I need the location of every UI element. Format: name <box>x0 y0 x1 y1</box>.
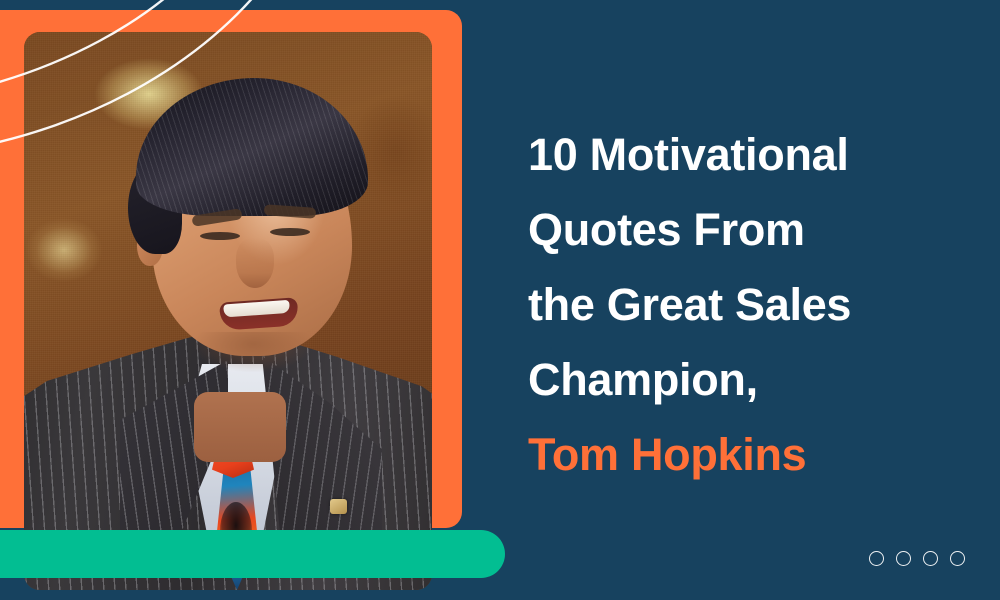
pagination-dot-4[interactable] <box>950 551 965 566</box>
chin-shadow <box>194 332 312 372</box>
pagination-dots[interactable] <box>869 551 965 566</box>
neck <box>194 392 286 462</box>
headline-line-2: Quotes From <box>528 192 958 267</box>
headline-accent-name: Tom Hopkins <box>528 417 958 492</box>
page-title: 10 Motivational Quotes From the Great Sa… <box>528 117 958 492</box>
eye-left <box>200 232 240 240</box>
pagination-dot-2[interactable] <box>896 551 911 566</box>
slide-canvas: 10 Motivational Quotes From the Great Sa… <box>0 0 1000 600</box>
green-accent-bar <box>0 530 505 578</box>
lapel-pin <box>330 499 347 514</box>
eye-right <box>270 228 310 236</box>
speaker-photo <box>24 32 432 590</box>
pagination-dot-1[interactable] <box>869 551 884 566</box>
headline-line-1: 10 Motivational <box>528 117 958 192</box>
nose <box>236 238 274 288</box>
hair <box>136 78 368 216</box>
headline-line-3: the Great Sales <box>528 267 958 342</box>
pagination-dot-3[interactable] <box>923 551 938 566</box>
teeth <box>223 300 290 318</box>
person-portrait <box>24 32 432 590</box>
headline-line-4: Champion, <box>528 342 958 417</box>
